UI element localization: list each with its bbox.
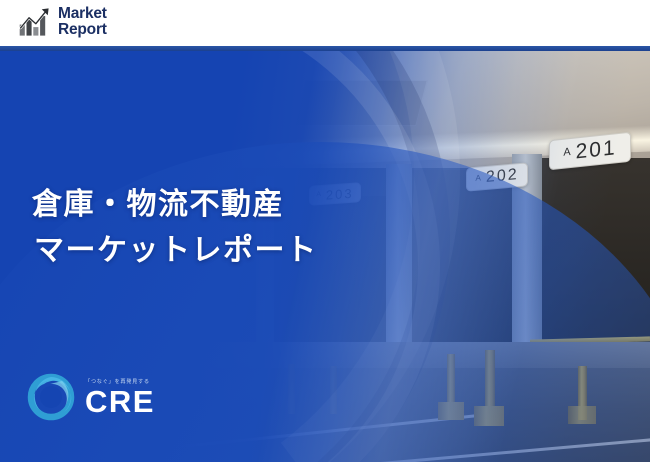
brand-line-2: Report	[58, 22, 107, 38]
cre-tagline: 「つなぐ」を再発見する	[85, 378, 155, 385]
pillar	[386, 164, 412, 354]
dock-door	[412, 170, 512, 354]
bollard-base	[438, 402, 464, 420]
bar-chart-up-icon	[18, 7, 52, 37]
dock-sign-number: 202	[486, 166, 519, 187]
market-report-wordmark: Market Report	[58, 6, 107, 38]
cre-logo: 「つなぐ」を再発見する CRE	[26, 372, 155, 422]
cre-wordmark: 「つなぐ」を再発見する CRE	[85, 378, 155, 417]
page-title: 倉庫・物流不動産 マーケットレポート	[32, 182, 318, 273]
dock-door	[542, 158, 650, 354]
bollard	[330, 366, 337, 414]
title-line-1: 倉庫・物流不動産	[32, 182, 318, 228]
header-rule	[0, 46, 650, 51]
title-line-2: マーケットレポート	[32, 228, 318, 274]
bollard-base	[568, 406, 596, 424]
brand-line-1: Market	[58, 6, 107, 22]
bollard-base	[474, 406, 504, 426]
dock-sign-prefix: A	[563, 146, 572, 159]
report-cover: A 203 A 202 A 201	[0, 0, 650, 462]
dock-floor-edge	[0, 342, 650, 368]
dock-sign-prefix: A	[475, 172, 483, 183]
dock-sign-number: 203	[326, 185, 354, 202]
cre-name: CRE	[85, 386, 155, 417]
cre-swirl-circle-icon	[26, 372, 76, 422]
bollard	[288, 364, 295, 414]
dock-sign-number: 201	[576, 136, 617, 164]
top-logo-bar: Market Report	[0, 0, 650, 46]
market-report-logo[interactable]: Market Report	[18, 6, 107, 38]
